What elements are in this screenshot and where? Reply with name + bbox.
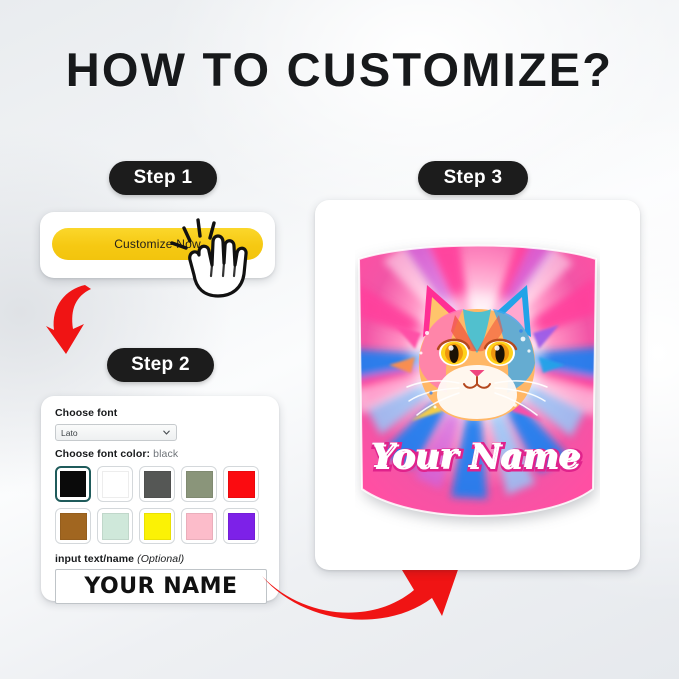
customize-now-button[interactable]: Customize Now bbox=[52, 228, 263, 260]
color-swatch-fill bbox=[144, 471, 171, 498]
font-select-value: Lato bbox=[61, 428, 78, 438]
choose-font-label: Choose font bbox=[55, 407, 267, 419]
color-swatch-yellow[interactable] bbox=[139, 508, 175, 544]
color-swatch-row-2 bbox=[55, 508, 267, 544]
color-swatch-red[interactable] bbox=[223, 466, 259, 502]
color-swatch-fill bbox=[144, 513, 171, 540]
blanket-personalized-text: Your Name bbox=[370, 436, 579, 476]
choose-font-color-label: Choose font color: black bbox=[55, 448, 267, 460]
chevron-down-icon bbox=[162, 428, 171, 437]
color-swatch-fill bbox=[102, 471, 129, 498]
name-text-input-value: YOUR NAME bbox=[84, 574, 237, 599]
input-text-label-optional: (Optional) bbox=[137, 553, 184, 565]
color-swatch-row-1 bbox=[55, 466, 267, 502]
color-swatch-fill bbox=[186, 471, 213, 498]
page-title: HOW TO CUSTOMIZE? bbox=[0, 46, 679, 93]
font-select[interactable]: Lato bbox=[55, 424, 177, 441]
color-swatch-purple[interactable] bbox=[223, 508, 259, 544]
color-swatch-fill bbox=[60, 471, 86, 497]
color-swatch-fill bbox=[186, 513, 213, 540]
input-text-label-main: input text/name bbox=[55, 553, 134, 565]
step-3-badge: Step 3 bbox=[418, 161, 528, 195]
font-color-label-value: black bbox=[153, 448, 178, 460]
step-1-card: Customize Now bbox=[40, 212, 275, 278]
color-swatch-fill bbox=[60, 513, 87, 540]
infographic-stage: HOW TO CUSTOMIZE? Step 1 Customize Now S… bbox=[0, 0, 679, 679]
personalized-blanket-product: Your Name Your Name bbox=[355, 237, 600, 532]
step-2-badge: Step 2 bbox=[107, 348, 214, 382]
step-1-badge: Step 1 bbox=[109, 161, 217, 195]
color-swatch-brown[interactable] bbox=[55, 508, 91, 544]
color-swatch-mint[interactable] bbox=[97, 508, 133, 544]
color-swatch-sage-green[interactable] bbox=[181, 466, 217, 502]
color-swatch-white[interactable] bbox=[97, 466, 133, 502]
input-text-label: input text/name (Optional) bbox=[55, 553, 267, 565]
color-swatch-dark-gray[interactable] bbox=[139, 466, 175, 502]
font-color-label-prefix: Choose font color: bbox=[55, 448, 150, 460]
name-text-input[interactable]: YOUR NAME bbox=[55, 569, 267, 604]
step-2-panel: Choose font Lato Choose font color: blac… bbox=[41, 396, 279, 601]
color-swatch-fill bbox=[228, 513, 255, 540]
color-swatch-fill bbox=[102, 513, 129, 540]
color-swatch-pink[interactable] bbox=[181, 508, 217, 544]
color-swatch-fill bbox=[228, 471, 255, 498]
color-swatch-black[interactable] bbox=[55, 466, 91, 502]
